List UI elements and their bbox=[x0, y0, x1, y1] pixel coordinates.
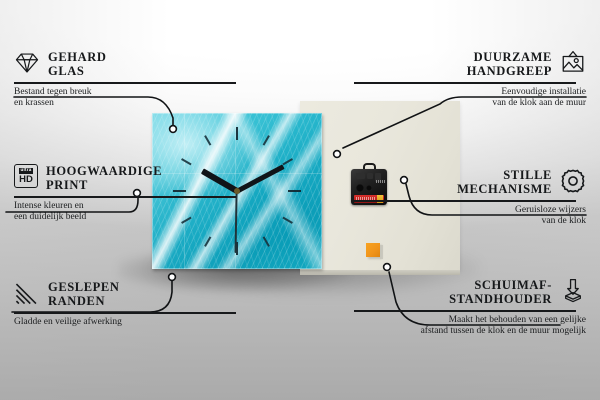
diamond-icon bbox=[14, 50, 40, 76]
feature-title: SCHUIMAF- STANDHOUDER bbox=[354, 278, 552, 306]
callout-marker-duurzame-handgreep bbox=[334, 151, 341, 158]
feature-divider bbox=[354, 82, 576, 84]
ultra-hd-badge-top-text: ultra bbox=[19, 168, 33, 174]
feature-description: Maakt het behouden van een gelijke afsta… bbox=[354, 315, 586, 338]
feature-header: SCHUIMAF- STANDHOUDER bbox=[354, 278, 586, 306]
gear-icon bbox=[560, 168, 586, 194]
feature-geslepen-randen: GESLEPEN RANDEN Gladde en veilige afwerk… bbox=[14, 280, 246, 328]
feature-title: STILLE MECHANISME bbox=[354, 168, 552, 196]
feature-gehard-glas: GEHARD GLAS Bestand tegen breuk en krass… bbox=[14, 50, 246, 110]
feature-hoogwaardige-print: ultra HD HOOGWAARDIGE PRINT Intense kleu… bbox=[14, 164, 246, 224]
feature-title: HOOGWAARDIGE PRINT bbox=[46, 164, 162, 192]
feature-header: ultra HD HOOGWAARDIGE PRINT bbox=[14, 164, 246, 192]
clock-back-panel-edge bbox=[300, 270, 460, 275]
feature-title: GEHARD GLAS bbox=[48, 50, 106, 78]
ultra-hd-badge-icon: ultra HD bbox=[14, 164, 38, 188]
hanging-picture-frame-icon bbox=[560, 50, 586, 76]
feature-header: DUURZAME HANDGREEP bbox=[354, 50, 586, 78]
feature-duurzame-handgreep: DUURZAME HANDGREEP Eenvoudige installati… bbox=[354, 50, 586, 110]
feature-description: Bestand tegen breuk en krassen bbox=[14, 87, 246, 110]
feature-description: Geruisloze wijzers van de klok bbox=[354, 205, 586, 228]
feature-description: Eenvoudige installatie van de klok aan d… bbox=[354, 87, 586, 110]
feature-description: Gladde en veilige afwerking bbox=[14, 317, 246, 329]
feature-header: STILLE MECHANISME bbox=[354, 168, 586, 196]
beveled-edges-icon bbox=[14, 280, 40, 306]
feature-divider bbox=[354, 310, 576, 312]
feature-stille-mechanisme: STILLE MECHANISME Geruisloze wijzers van… bbox=[354, 168, 586, 228]
feature-divider bbox=[14, 312, 236, 314]
arrow-down-into-pad-icon bbox=[560, 278, 586, 304]
feature-divider bbox=[354, 200, 576, 202]
foam-spacer-pad bbox=[366, 243, 380, 257]
feature-title: DUURZAME HANDGREEP bbox=[354, 50, 552, 78]
infographic-canvas: GEHARD GLAS Bestand tegen breuk en krass… bbox=[0, 0, 600, 400]
feature-description: Intense kleuren en een duidelijk beeld bbox=[14, 201, 246, 224]
ultra-hd-badge-bottom-text: HD bbox=[19, 175, 33, 185]
callout-marker-schuimafstandhouder bbox=[384, 264, 391, 271]
feature-divider bbox=[14, 196, 236, 198]
feature-header: GEHARD GLAS bbox=[14, 50, 246, 78]
feature-header: GESLEPEN RANDEN bbox=[14, 280, 246, 308]
feature-divider bbox=[14, 82, 236, 84]
feature-schuimafstandhouder: SCHUIMAF- STANDHOUDER Maakt het behouden… bbox=[354, 278, 586, 338]
feature-title: GESLEPEN RANDEN bbox=[48, 280, 120, 308]
callout-marker-gehard-glas bbox=[170, 126, 177, 133]
